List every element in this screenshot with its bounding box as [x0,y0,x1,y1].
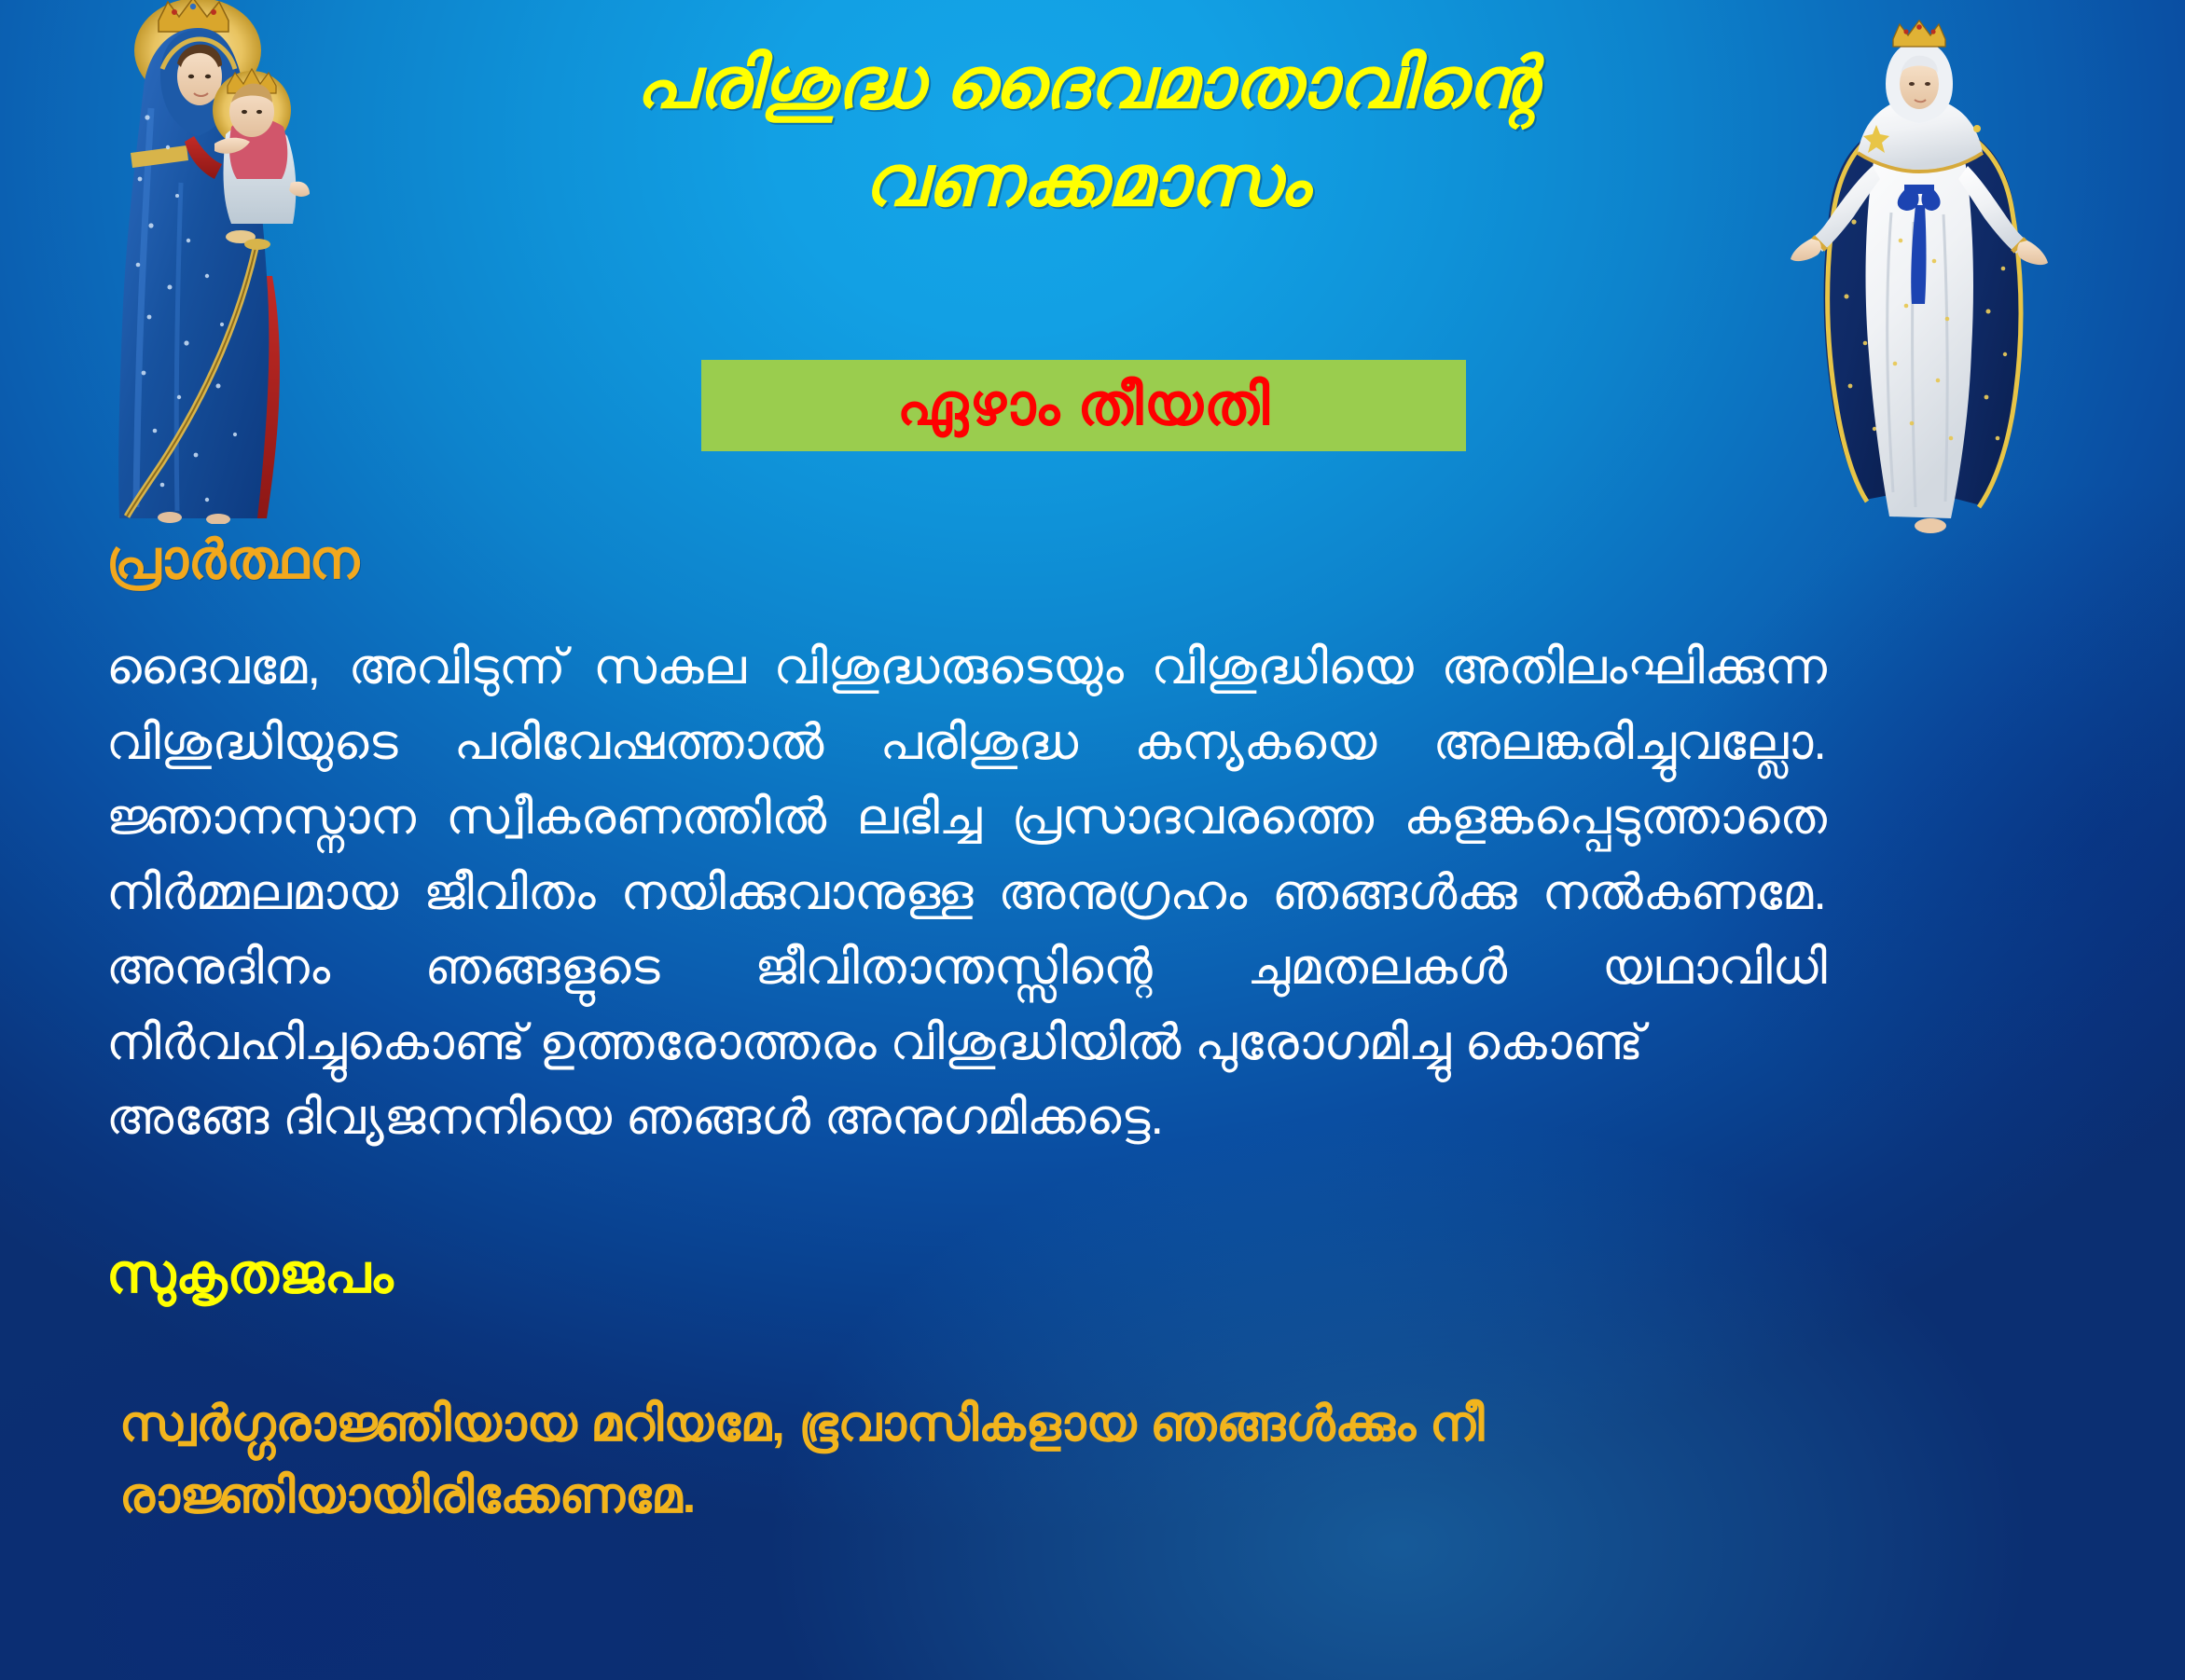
prayer-paragraph-1: ദൈവമേ, അവിടുന്ന് സകല വിശുദ്ധരുടെയും വിശു… [106,630,1827,1081]
prayer-paragraph-2: അങ്ങേ ദിവ്യജനനിയെ ഞങ്ങൾ അനുഗമിക്കട്ടെ. [106,1081,1827,1156]
prayer-section-body: ദൈവമേ, അവിടുന്ന് സകല വിശുദ്ധരുടെയും വിശു… [106,630,1827,1156]
slide-canvas: പരിശുദ്ധ ദൈവമാതാവിന്റെ വണക്കമാസം ഏഴാം തീ… [0,0,2185,1680]
page-title: പരിശുദ്ധ ദൈവമാതാവിന്റെ വണക്കമാസം [401,35,1772,231]
title-line-1: പരിശുദ്ധ ദൈവമാതാവിന്റെ [401,35,1772,133]
date-banner: ഏഴാം തീയതി [701,360,1466,451]
practice-section-heading: സുകൃതജപം [106,1247,394,1301]
title-line-2: വണക്കമാസം [401,133,1772,231]
prayer-section-heading: പ്രാർത്ഥന [106,533,359,587]
practice-section-body: സ്വർഗ്ഗരാജ്ഞിയായ മറിയമേ, ഭൂവാസികളായ ഞങ്ങ… [119,1389,1835,1533]
date-label: ഏഴാം തീയതി [897,372,1270,439]
madonna-and-child-image [58,0,330,524]
practice-paragraph-1: സ്വർഗ്ഗരാജ്ഞിയായ മറിയമേ, ഭൂവാസികളായ ഞങ്ങ… [119,1389,1835,1533]
our-lady-of-grace-statue-image [1764,7,2072,541]
